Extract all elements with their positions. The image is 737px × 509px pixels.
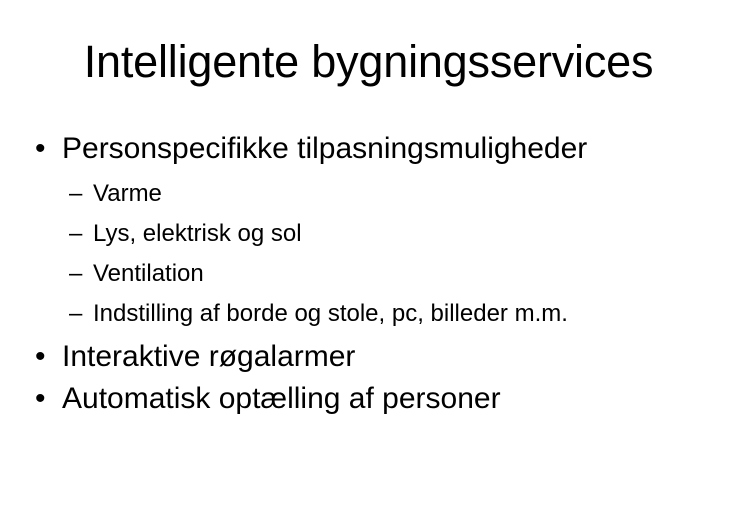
slide-title: Intelligente bygningsservices bbox=[0, 38, 737, 87]
subbullet-text: Indstilling af borde og stole, pc, bille… bbox=[93, 294, 568, 334]
subbullet-text: Varme bbox=[93, 174, 162, 214]
list-item: – Lys, elektrisk og sol bbox=[62, 214, 737, 254]
bullet-dash-icon: – bbox=[69, 214, 82, 254]
bullet-list-level2: – Varme – Lys, elektrisk og sol – Ventil… bbox=[62, 174, 737, 334]
bullet-text: Personspecifikke tilpasningsmuligheder bbox=[62, 128, 587, 170]
bullet-dot-icon: • bbox=[35, 378, 46, 420]
subbullet-text: Lys, elektrisk og sol bbox=[93, 214, 302, 254]
bullet-dash-icon: – bbox=[69, 254, 82, 294]
subbullet-text: Ventilation bbox=[93, 254, 204, 294]
sublist-wrapper: – Varme – Lys, elektrisk og sol – Ventil… bbox=[0, 174, 737, 334]
list-item: – Varme bbox=[62, 174, 737, 214]
bullet-list-level1: • Personspecifikke tilpasningsmuligheder… bbox=[0, 128, 737, 420]
list-item: – Ventilation bbox=[62, 254, 737, 294]
list-item: • Interaktive røgalarmer bbox=[0, 336, 737, 378]
bullet-text: Interaktive røgalarmer bbox=[62, 336, 355, 378]
bullet-dash-icon: – bbox=[69, 294, 82, 334]
presentation-slide: Intelligente bygningsservices • Personsp… bbox=[0, 0, 737, 509]
slide-body: • Personspecifikke tilpasningsmuligheder… bbox=[0, 128, 737, 420]
list-item: • Automatisk optælling af personer bbox=[0, 378, 737, 420]
list-item: • Personspecifikke tilpasningsmuligheder bbox=[0, 128, 737, 170]
list-item: – Indstilling af borde og stole, pc, bil… bbox=[62, 294, 737, 334]
bullet-dash-icon: – bbox=[69, 174, 82, 214]
bullet-text: Automatisk optælling af personer bbox=[62, 378, 501, 420]
bullet-dot-icon: • bbox=[35, 336, 46, 378]
bullet-dot-icon: • bbox=[35, 128, 46, 170]
